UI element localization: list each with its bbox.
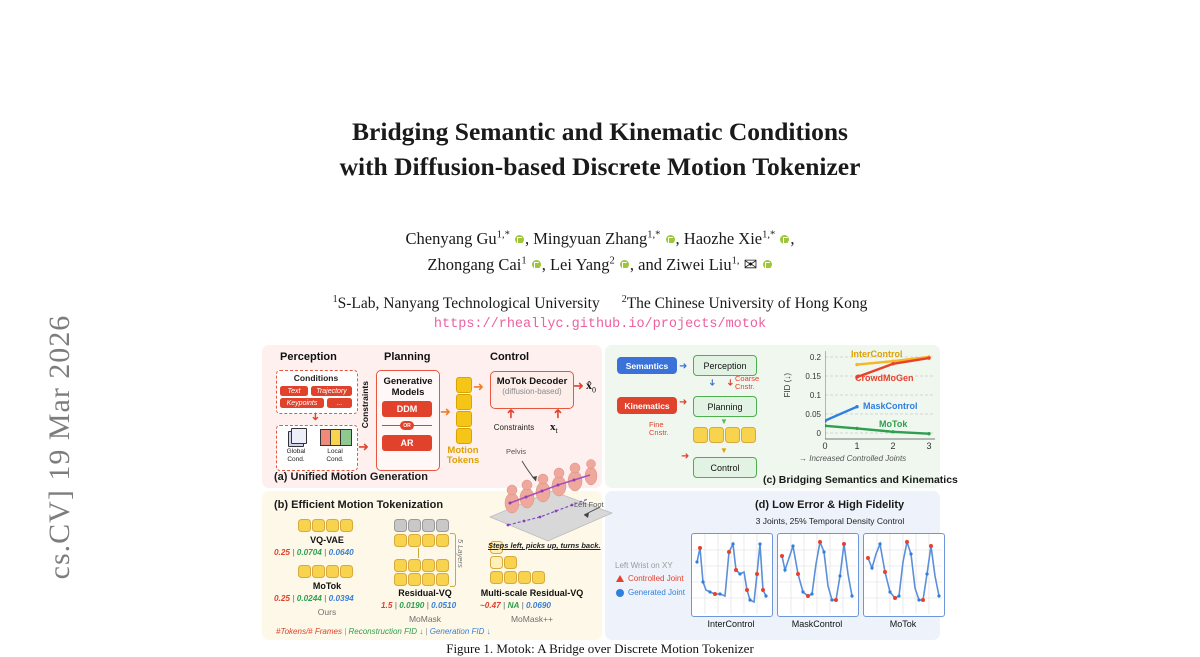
kinematics-box: Kinematics — [617, 397, 677, 414]
token-square — [709, 427, 724, 443]
plot-label-intercontrol: InterControl — [691, 619, 771, 629]
panel-b-title: (b) Efficient Motion Tokenization — [274, 499, 443, 511]
motion-caption: Steps left, picks up, turns back. — [488, 541, 601, 550]
fid-line-chart: FID (↓) 0.2 0.15 0.1 0.05 0 — [785, 351, 937, 463]
author-ziwei-liu: , and Ziwei Liu — [630, 255, 732, 274]
motion-token — [456, 377, 472, 393]
control-box: Control — [693, 457, 757, 478]
title-line-2: with Diffusion-based Discrete Motion Tok… — [250, 150, 950, 185]
chart-xtick: 0 — [818, 441, 832, 451]
panel-d-title: (d) Low Error & High Fidelity — [755, 499, 904, 511]
trajectory-svg — [692, 534, 770, 614]
token-square — [693, 427, 708, 443]
left-foot-label: Left Foot — [574, 500, 604, 509]
condition-trajectory: Trajectory — [311, 386, 352, 396]
semantics-box: Semantics — [617, 357, 677, 374]
arrow-down-icon: ▼ — [720, 446, 728, 455]
arrow-right-icon: ➜ — [440, 405, 451, 418]
layers-dots — [418, 548, 419, 558]
decoder-label-1: MoTok Decoder — [491, 376, 573, 387]
constraints-vertical-label: Constraints — [360, 381, 370, 428]
arrow-right-icon: ➜ — [573, 379, 584, 392]
method-metrics-rvq: 1.5 | 0.0190 | 0.0510 — [381, 601, 456, 610]
series-label-crowdmogen: CrowdMoGen — [855, 373, 914, 383]
token-square — [504, 571, 517, 584]
token-square — [408, 559, 421, 572]
motion-svg — [480, 445, 615, 550]
arrow-right-icon: ➜ — [679, 397, 687, 408]
panel-d-low-error-high-fidelity: (d) Low Error & High Fidelity 3 Joints, … — [605, 491, 940, 640]
motion-token — [456, 428, 472, 444]
token-square — [340, 565, 353, 578]
arrow-down-icon: ▼ — [720, 417, 728, 426]
author-line-2: Zhongang Cai1 , Lei Yang2 , and Ziwei Li… — [250, 252, 950, 278]
affiliation-1: S-Lab, Nanyang Technological University — [338, 295, 600, 312]
token-square — [422, 534, 435, 547]
affiliation-2: The Chinese University of Hong Kong — [627, 295, 868, 312]
token-square — [408, 534, 421, 547]
trajectory-plot-motok — [863, 533, 945, 617]
token-square — [298, 565, 311, 578]
local-cond-cube-3 — [340, 429, 352, 446]
method-metrics-motok: 0.25 | 0.0244 | 0.0394 — [274, 594, 354, 603]
token-square — [422, 559, 435, 572]
chart-xtick: 3 — [922, 441, 936, 451]
token-square — [312, 565, 325, 578]
orcid-icon[interactable] — [666, 235, 675, 244]
condition-keypoints: Keypoints — [280, 398, 324, 408]
coarse-constraint-label: CoarseCnstr. — [735, 375, 759, 392]
author-list: Chenyang Gu1,* , Mingyuan Zhang1,* , Hao… — [250, 226, 950, 277]
method-name-motok: MoTok — [282, 581, 372, 591]
motok-decoder-box: MoTok Decoder (diffusion-based) — [490, 371, 574, 409]
orcid-icon[interactable] — [532, 260, 541, 269]
token-square — [532, 571, 545, 584]
method-name-rvq: Residual-VQ — [386, 588, 464, 598]
token-square — [490, 571, 503, 584]
chart-ytick: 0.05 — [795, 410, 821, 419]
decoder-label-2: (diffusion-based) — [491, 387, 573, 396]
circle-marker-icon — [616, 589, 624, 597]
triangle-marker-icon — [616, 575, 624, 582]
global-cond-label-2: Cond. — [274, 456, 318, 463]
chart-xlabel: → Increased Controlled Joints — [799, 454, 906, 463]
author-chenyang-gu: Chenyang Gu — [405, 229, 496, 248]
plot-label-maskcontrol: MaskControl — [777, 619, 857, 629]
method-source-ours: Ours — [284, 607, 370, 617]
token-square-gray — [422, 519, 435, 532]
arrow-right-icon: ➜ — [679, 361, 687, 372]
panel-d-legend-controlled: Controlled Joint — [628, 574, 684, 583]
series-label-intercontrol: InterControl — [851, 349, 903, 359]
token-square — [518, 571, 531, 584]
fine-constraint-label: FineCnstr. — [649, 421, 669, 438]
arrow-right-icon: ➜ — [358, 440, 369, 453]
ddm-box: DDM — [382, 401, 432, 417]
ar-box: AR — [382, 435, 432, 451]
panel-b-legend: #Tokens/# Frames | Reconstruction FID ↓ … — [276, 627, 491, 636]
token-square — [326, 565, 339, 578]
generative-models-label-2: Models — [377, 387, 439, 398]
panel-a-col-perception: Perception — [280, 351, 337, 363]
page-title: Bridging Semantic and Kinematic Conditio… — [250, 115, 950, 184]
method-name-msrvq: Multi-scale Residual-VQ — [470, 588, 594, 598]
method-metrics-vqvae: 0.25 | 0.0704 | 0.0640 — [274, 548, 354, 557]
token-square-gray — [436, 519, 449, 532]
global-cond-cube-top — [291, 428, 307, 444]
method-name-vqvae: VQ-VAE — [282, 535, 372, 545]
token-square — [741, 427, 756, 443]
panel-c-title: (c) Bridging Semantics and Kinematics — [763, 474, 958, 486]
or-tag: OR — [400, 421, 414, 430]
author-zhongang-cai: Zhongang Cai — [427, 255, 521, 274]
layers-label: 5 Layers — [456, 539, 465, 568]
arrow-right-icon: ➜ — [681, 451, 689, 462]
token-square — [326, 519, 339, 532]
motion-token — [456, 411, 472, 427]
token-square — [408, 573, 421, 586]
method-source-momaskpp: MoMask++ — [470, 614, 594, 624]
method-metrics-msrvq: ~0.47 | NA | 0.0690 — [480, 601, 551, 610]
chart-svg — [825, 351, 935, 447]
arrow-right-icon: ➜ — [473, 380, 484, 393]
orcid-icon[interactable] — [515, 235, 524, 244]
chart-ytick: 0.1 — [795, 391, 821, 400]
project-url[interactable]: https://rheallyc.github.io/projects/moto… — [250, 317, 950, 332]
chart-ytick: 0.2 — [795, 353, 821, 362]
arrow-down-icon: ➜ — [309, 412, 320, 421]
token-square-gray — [408, 519, 421, 532]
trajectory-svg — [864, 534, 942, 614]
token-square — [394, 559, 407, 572]
envelope-icon: ✉ — [744, 255, 758, 274]
panel-d-legend-title: Left Wrist on XY — [615, 561, 673, 570]
chart-ytick: 0 — [795, 429, 821, 438]
series-label-maskcontrol: MaskControl — [863, 401, 918, 411]
plot-label-motok: MoTok — [863, 619, 943, 629]
panel-d-legend-generated: Generated Joint — [628, 588, 685, 597]
arrow-up-icon: ➜ — [504, 408, 517, 419]
affiliations: 1S-Lab, Nanyang Technological University… — [250, 294, 950, 313]
token-square-light — [490, 556, 503, 569]
token-square — [436, 573, 449, 586]
trajectory-svg — [778, 534, 856, 614]
token-square — [436, 559, 449, 572]
conditions-title: Conditions — [276, 373, 356, 383]
panel-a-col-planning: Planning — [384, 351, 430, 363]
token-square — [340, 519, 353, 532]
author-line-1: Chenyang Gu1,* , Mingyuan Zhang1,* , Hao… — [250, 226, 950, 252]
orcid-icon[interactable] — [620, 260, 629, 269]
token-square — [394, 534, 407, 547]
paper-page: cs.CV] 19 Mar 2026 Bridging Semantic and… — [0, 0, 1200, 648]
generative-models-label-1: Generative — [377, 376, 439, 387]
arxiv-stamp: cs.CV] 19 Mar 2026 — [43, 237, 77, 657]
author-mingyuan-zhang: , Mingyuan Zhang — [525, 229, 647, 248]
author-haozhe-xie: , Haozhe Xie — [676, 229, 763, 248]
teaser-figure: Perception Planning Control Conditions T… — [262, 345, 940, 640]
orcid-icon[interactable] — [763, 260, 772, 269]
token-square-gray — [394, 519, 407, 532]
panel-a-col-control: Control — [490, 351, 529, 363]
figure-caption: Figure 1. Motok: A Bridge over Discrete … — [250, 641, 950, 657]
condition-text: Text — [280, 386, 308, 396]
panel-c-bridging-semantics-kinematics: Semantics Kinematics Perception Planning… — [605, 345, 940, 488]
trajectory-plot-intercontrol — [691, 533, 773, 617]
method-source-momask: MoMask — [386, 614, 464, 624]
x-hat-output: x̂0 — [586, 378, 596, 394]
global-cond-label-1: Global — [274, 448, 318, 455]
pelvis-label: Pelvis — [506, 447, 526, 456]
series-label-motok: MoTok — [879, 419, 907, 429]
panel-d-subtitle: 3 Joints, 25% Temporal Density Control — [725, 516, 935, 526]
author-lei-yang: , Lei Yang — [542, 255, 610, 274]
arrow-down-icon: ➜ — [706, 379, 717, 387]
trajectory-plot-maskcontrol — [777, 533, 859, 617]
local-cond-label-2: Cond. — [313, 456, 357, 463]
chart-xtick: 1 — [850, 441, 864, 451]
title-line-1: Bridging Semantic and Kinematic Conditio… — [250, 115, 950, 150]
arrow-down-icon: ➜ — [724, 379, 735, 387]
x-t-input: xt — [550, 421, 558, 435]
planning-box: Planning — [693, 396, 757, 417]
local-cond-label-1: Local — [313, 448, 357, 455]
condition-etc: ... — [327, 398, 352, 408]
token-square — [504, 556, 517, 569]
chart-xtick: 2 — [886, 441, 900, 451]
token-square — [422, 573, 435, 586]
motion-token — [456, 394, 472, 410]
arrow-up-icon: ➜ — [551, 408, 564, 419]
orcid-icon[interactable] — [780, 235, 789, 244]
token-square — [298, 519, 311, 532]
motion-illustration: Pelvis Left Foot Steps left, picks up, t… — [480, 445, 615, 550]
perception-box: Perception — [693, 355, 757, 376]
token-square — [312, 519, 325, 532]
chart-ytick: 0.15 — [795, 372, 821, 381]
chart-ylabel: FID (↓) — [783, 373, 792, 397]
panel-a-title: (a) Unified Motion Generation — [274, 471, 428, 483]
decoder-constraints-label: Constraints — [484, 423, 544, 432]
token-square — [725, 427, 740, 443]
token-square — [436, 534, 449, 547]
token-square — [394, 573, 407, 586]
